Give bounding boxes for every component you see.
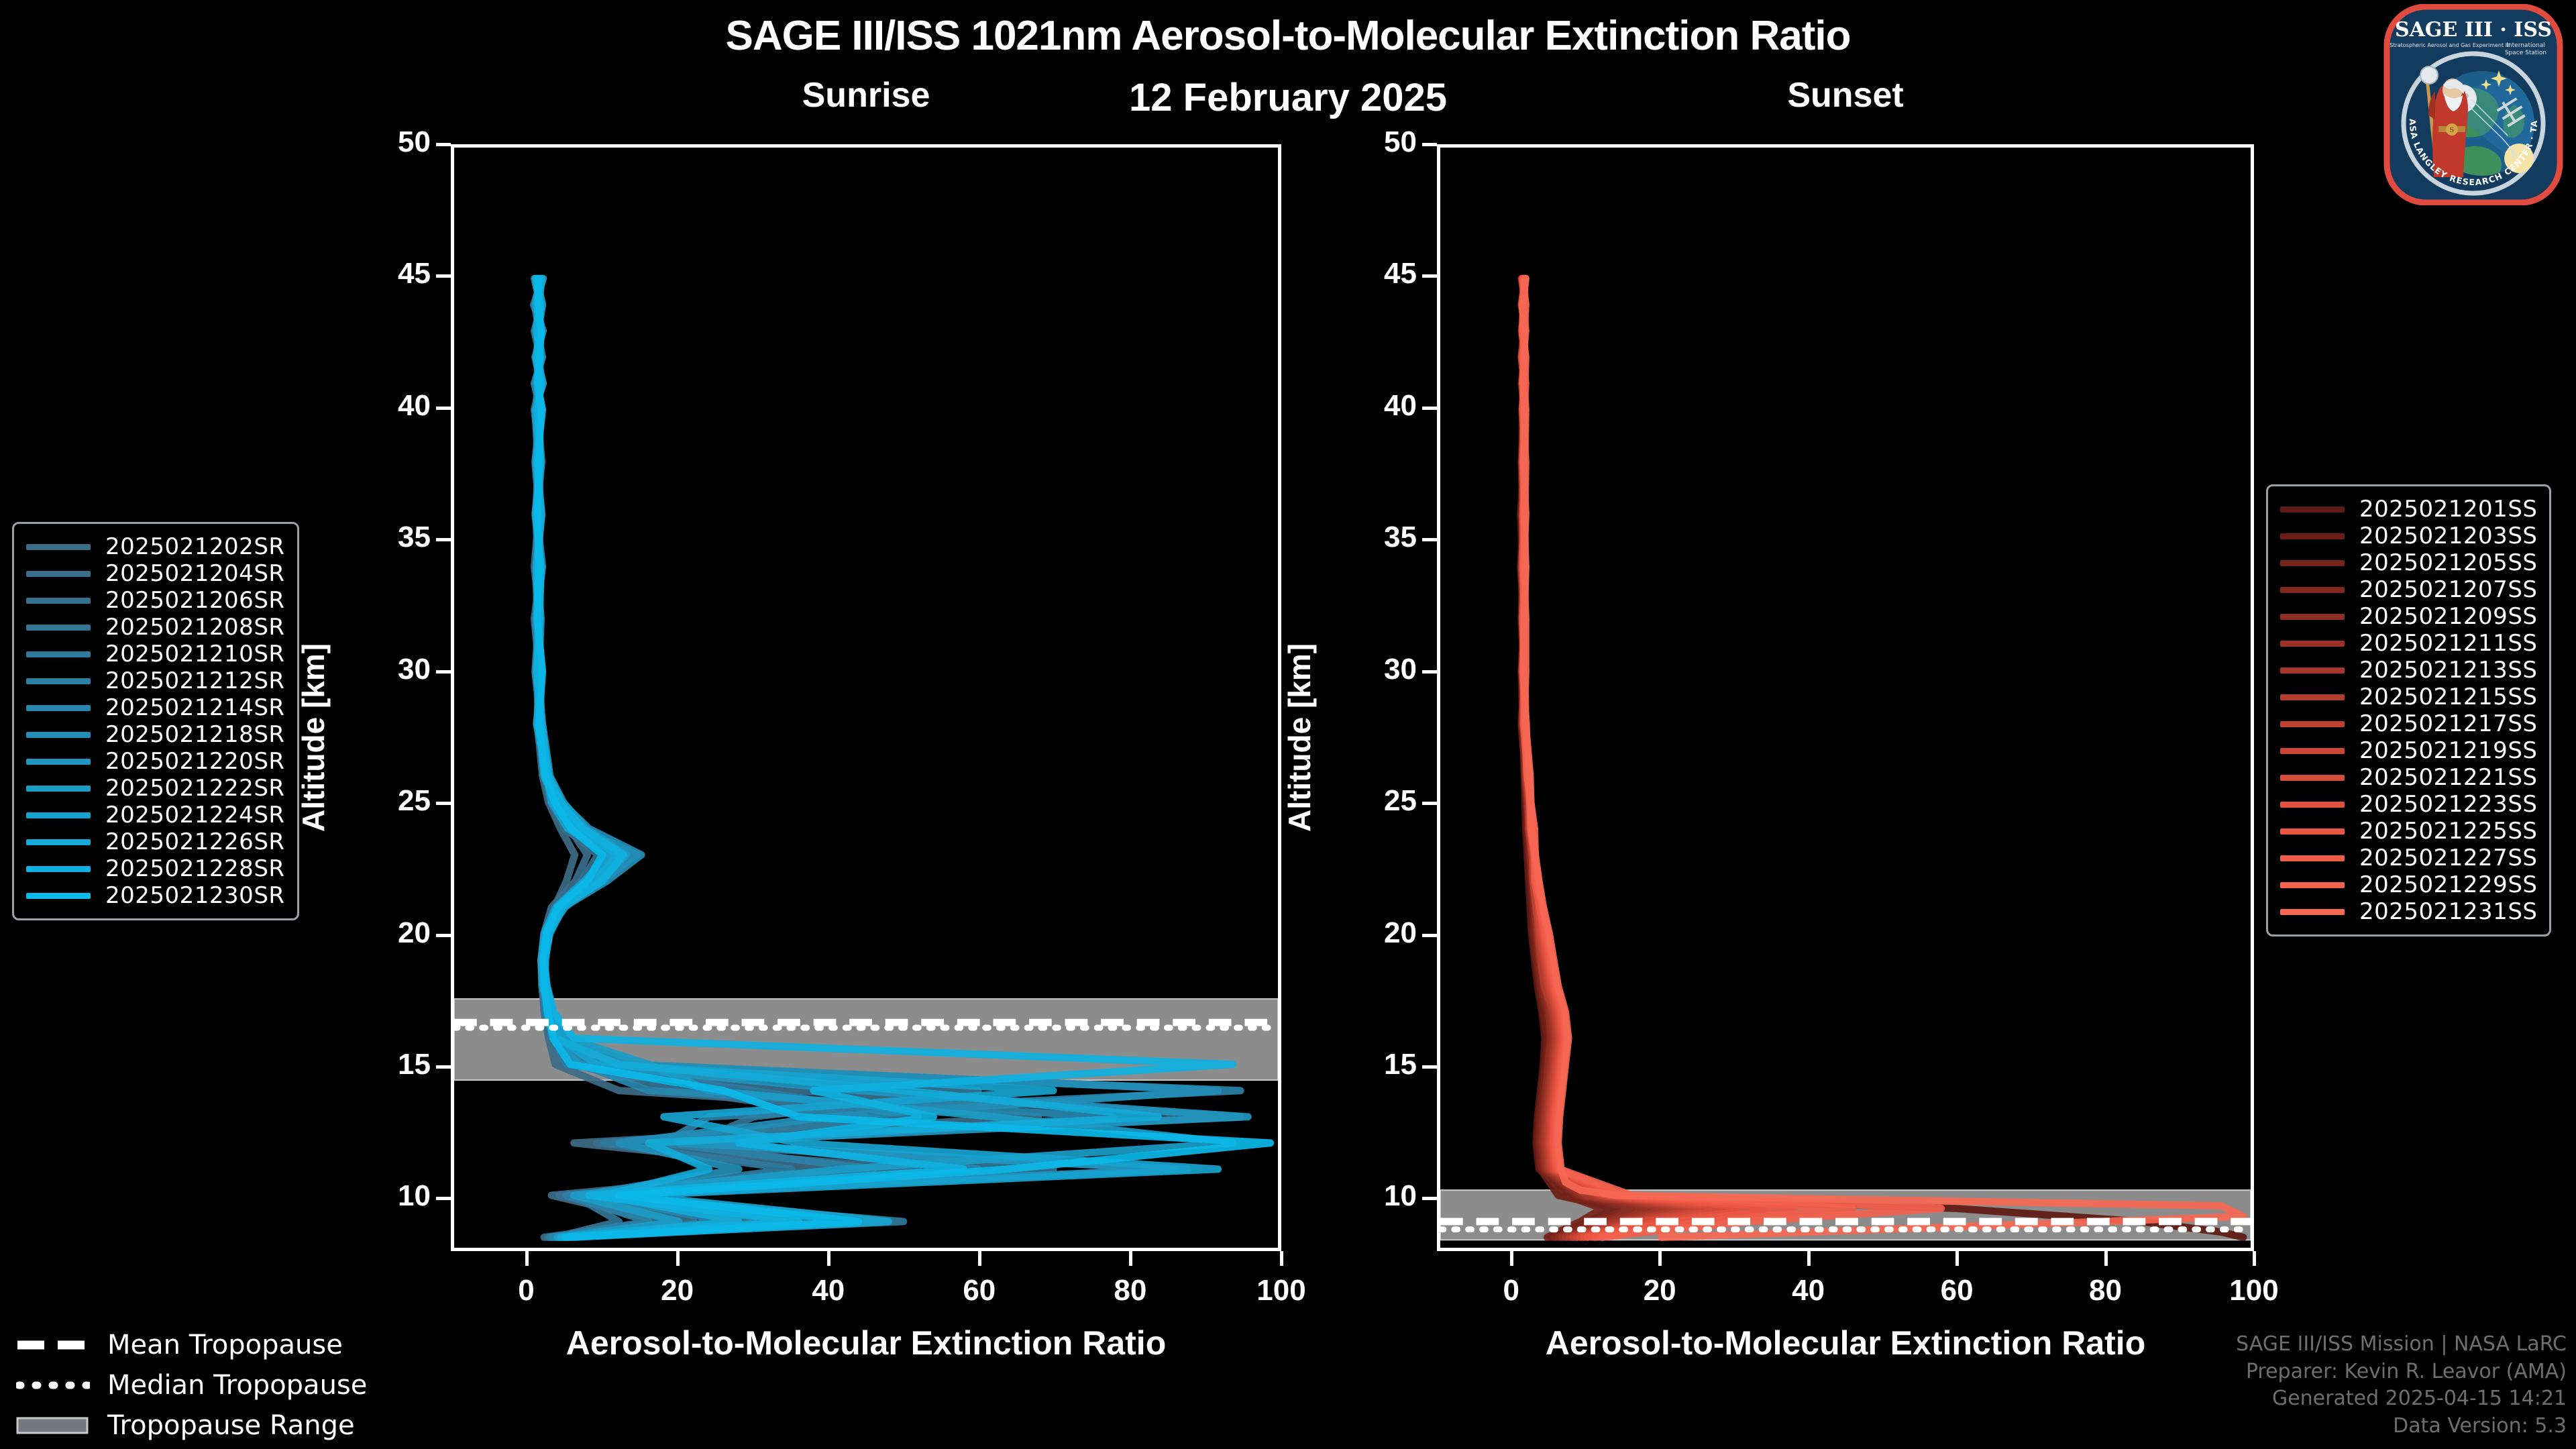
legend-color-swatch — [2280, 882, 2345, 888]
y-tick-label-r-10: 10 — [1343, 1179, 1417, 1213]
legend-item-2025021228SR[interactable]: 2025021228SR — [26, 855, 285, 882]
legend-item-2025021222SR[interactable]: 2025021222SR — [26, 775, 285, 802]
y-tick-mark — [436, 143, 451, 146]
sunset-x-axis-label: Aerosol-to-Molecular Extinction Ratio — [1437, 1324, 2254, 1362]
legend-item-label: 2025021218SR — [105, 721, 285, 748]
y-tick-label-l-25: 25 — [357, 784, 431, 818]
x-tick-mark — [827, 1251, 830, 1266]
legend-color-swatch — [2280, 614, 2345, 620]
tropopause-legend-row: Median Tropopause — [16, 1365, 367, 1405]
legend-item-label: 2025021226SR — [105, 828, 285, 855]
legend-item-2025021206SR[interactable]: 2025021206SR — [26, 587, 285, 614]
legend-item-label: 2025021208SR — [105, 614, 285, 641]
legend-item-2025021230SR[interactable]: 2025021230SR — [26, 882, 285, 909]
y-tick-label-r-15: 15 — [1343, 1048, 1417, 1081]
legend-item-2025021217SS[interactable]: 2025021217SS — [2280, 710, 2537, 737]
legend-item-label: 2025021221SS — [2359, 764, 2537, 791]
y-tick-label-l-40: 40 — [357, 389, 431, 423]
y-tick-mark — [436, 538, 451, 541]
legend-color-swatch — [26, 839, 91, 845]
legend-item-label: 2025021231SS — [2359, 898, 2537, 925]
legend-color-swatch — [2280, 775, 2345, 781]
legend-item-label: 2025021230SR — [105, 882, 285, 909]
legend-item-2025021208SR[interactable]: 2025021208SR — [26, 614, 285, 641]
legend-item-2025021210SR[interactable]: 2025021210SR — [26, 641, 285, 667]
y-tick-label-r-35: 35 — [1343, 521, 1417, 554]
svg-text:SAGE III · ISS: SAGE III · ISS — [2395, 18, 2552, 42]
svg-text:International: International — [2506, 42, 2544, 49]
x-tick-label-r-0: 0 — [1458, 1274, 1565, 1307]
x-tick-label-r-80: 80 — [2052, 1274, 2159, 1307]
legend-item-2025021209SS[interactable]: 2025021209SS — [2280, 603, 2537, 630]
x-tick-mark — [525, 1251, 529, 1266]
x-tick-mark — [1807, 1251, 1811, 1266]
legend-item-2025021229SS[interactable]: 2025021229SS — [2280, 871, 2537, 898]
y-tick-mark — [1422, 802, 1437, 805]
y-tick-label-l-35: 35 — [357, 521, 431, 554]
y-tick-label-r-40: 40 — [1343, 389, 1417, 423]
legend-item-2025021227SS[interactable]: 2025021227SS — [2280, 845, 2537, 871]
legend-item-label: 2025021205SS — [2359, 549, 2537, 576]
y-tick-mark — [436, 1197, 451, 1200]
legend-item-label: 2025021204SR — [105, 560, 285, 587]
credits-line-version: Data Version: 5.3 — [2236, 1413, 2567, 1440]
sage-iii-iss-mission-patch-logo: SAGE III · ISS Stratospheric Aerosol and… — [2383, 4, 2564, 205]
y-tick-mark — [1422, 670, 1437, 674]
legend-item-label: 2025021206SR — [105, 587, 285, 614]
legend-item-2025021223SS[interactable]: 2025021223SS — [2280, 791, 2537, 818]
y-tick-mark — [436, 802, 451, 805]
x-tick-mark — [676, 1251, 680, 1266]
svg-text:Stratospheric Aerosol and Gas: Stratospheric Aerosol and Gas Experiment… — [2390, 42, 2510, 48]
x-tick-mark — [1955, 1251, 1959, 1266]
y-tick-mark — [436, 1065, 451, 1069]
credits-block: SAGE III/ISS Mission | NASA LaRC Prepare… — [2236, 1331, 2567, 1440]
x-tick-mark — [1658, 1251, 1662, 1266]
legend-color-swatch — [2280, 694, 2345, 700]
y-tick-label-l-10: 10 — [357, 1179, 431, 1213]
legend-color-swatch — [26, 759, 91, 765]
legend-color-swatch — [2280, 587, 2345, 593]
x-tick-label-l-60: 60 — [926, 1274, 1033, 1307]
y-tick-mark — [436, 934, 451, 937]
legend-color-swatch — [2280, 533, 2345, 539]
legend-item-label: 2025021222SR — [105, 775, 285, 802]
legend-item-label: 2025021213SS — [2359, 657, 2537, 684]
x-tick-label-l-20: 20 — [624, 1274, 731, 1307]
tropopause-legend: Mean TropopauseMedian TropopauseTropopau… — [16, 1325, 367, 1446]
sunset-y-axis-label: Altitude [km] — [1281, 643, 1318, 832]
legend-item-label: 2025021209SS — [2359, 603, 2537, 630]
y-tick-label-l-50: 50 — [357, 125, 431, 159]
x-tick-mark — [1129, 1251, 1132, 1266]
y-tick-mark — [436, 274, 451, 278]
x-tick-mark — [1510, 1251, 1513, 1266]
legend-item-2025021214SR[interactable]: 2025021214SR — [26, 694, 285, 721]
legend-color-swatch — [2280, 641, 2345, 647]
x-tick-label-l-40: 40 — [775, 1274, 882, 1307]
sunrise-x-axis-label: Aerosol-to-Molecular Extinction Ratio — [451, 1324, 1281, 1362]
sunrise-y-axis-label: Altitude [km] — [295, 643, 331, 832]
x-tick-label-r-20: 20 — [1606, 1274, 1713, 1307]
x-tick-mark — [1280, 1251, 1283, 1266]
legend-item-2025021204SR[interactable]: 2025021204SR — [26, 560, 285, 587]
legend-item-label: 2025021214SR — [105, 694, 285, 721]
legend-color-swatch — [2280, 560, 2345, 566]
y-tick-mark — [1422, 143, 1437, 146]
legend-item-label: 2025021201SS — [2359, 496, 2537, 523]
y-tick-mark — [436, 670, 451, 674]
legend-color-swatch — [26, 705, 91, 711]
legend-color-swatch — [2280, 667, 2345, 674]
tropopause-legend-label: Tropopause Range — [107, 1410, 355, 1441]
y-tick-label-r-20: 20 — [1343, 916, 1417, 950]
page-title: SAGE III/ISS 1021nm Aerosol-to-Molecular… — [0, 12, 2576, 60]
y-tick-label-r-30: 30 — [1343, 653, 1417, 686]
y-tick-label-l-30: 30 — [357, 653, 431, 686]
legend-item-label: 2025021217SS — [2359, 710, 2537, 737]
legend-item-label: 2025021224SR — [105, 802, 285, 828]
legend-item-2025021203SS[interactable]: 2025021203SS — [2280, 523, 2537, 549]
legend-item-2025021225SS[interactable]: 2025021225SS — [2280, 818, 2537, 845]
x-tick-mark — [2253, 1251, 2256, 1266]
legend-item-label: 2025021223SS — [2359, 791, 2537, 818]
svg-text:Space Station: Space Station — [2505, 50, 2546, 56]
legend-color-swatch — [2280, 802, 2345, 808]
legend-color-swatch — [2280, 721, 2345, 727]
panel-label-sunrise: Sunrise — [451, 75, 1281, 115]
panel-label-sunset: Sunset — [1437, 75, 2254, 115]
legend-item-label: 2025021229SS — [2359, 871, 2537, 898]
tropopause-legend-label: Median Tropopause — [107, 1370, 367, 1401]
x-tick-mark — [2104, 1251, 2108, 1266]
legend-item-label: 2025021219SS — [2359, 737, 2537, 764]
legend-color-swatch — [2280, 855, 2345, 861]
legend-item-2025021207SS[interactable]: 2025021207SS — [2280, 576, 2537, 603]
legend-item-label: 2025021227SS — [2359, 845, 2537, 871]
legend-item-label: 2025021212SR — [105, 667, 285, 694]
legend-color-swatch — [2280, 828, 2345, 835]
legend-color-swatch — [26, 812, 91, 818]
legend-item-label: 2025021210SR — [105, 641, 285, 667]
x-tick-label-r-100: 100 — [2200, 1274, 2308, 1307]
legend-item-2025021205SS[interactable]: 2025021205SS — [2280, 549, 2537, 576]
mean-tropopause-line — [16, 1336, 90, 1354]
legend-color-swatch — [26, 732, 91, 738]
legend-item-label: 2025021228SR — [105, 855, 285, 882]
x-tick-mark — [978, 1251, 981, 1266]
legend-color-swatch — [26, 893, 91, 899]
x-tick-label-l-100: 100 — [1228, 1274, 1335, 1307]
legend-color-swatch — [2280, 506, 2345, 513]
svg-text:S: S — [2449, 127, 2454, 134]
legend-color-swatch — [26, 625, 91, 631]
sunrise-plot-axes[interactable] — [451, 144, 1281, 1251]
tropopause-legend-label: Mean Tropopause — [107, 1330, 343, 1360]
legend-color-swatch — [26, 678, 91, 684]
legend-item-2025021218SR[interactable]: 2025021218SR — [26, 721, 285, 748]
legend-color-swatch — [26, 866, 91, 872]
tropopause-range-band — [16, 1417, 90, 1434]
legend-color-swatch — [26, 571, 91, 577]
sunset-event-legend[interactable]: 2025021201SS2025021203SS2025021205SS2025… — [2266, 484, 2551, 936]
y-tick-label-l-45: 45 — [357, 257, 431, 290]
legend-item-label: 2025021202SR — [105, 533, 285, 560]
legend-item-2025021201SS[interactable]: 2025021201SS — [2280, 496, 2537, 523]
legend-color-swatch — [2280, 909, 2345, 915]
legend-item-2025021231SS[interactable]: 2025021231SS — [2280, 898, 2537, 925]
legend-color-swatch — [26, 544, 91, 550]
legend-color-swatch — [26, 651, 91, 657]
y-tick-mark — [1422, 1065, 1437, 1069]
legend-item-label: 2025021211SS — [2359, 630, 2537, 657]
median-tropopause-line — [16, 1377, 90, 1394]
legend-item-2025021213SS[interactable]: 2025021213SS — [2280, 657, 2537, 684]
legend-item-label: 2025021225SS — [2359, 818, 2537, 845]
credits-line-mission: SAGE III/ISS Mission | NASA LaRC — [2236, 1331, 2567, 1358]
y-tick-label-r-50: 50 — [1343, 125, 1417, 159]
x-tick-label-r-60: 60 — [1903, 1274, 2010, 1307]
legend-color-swatch — [26, 786, 91, 792]
x-tick-label-l-80: 80 — [1077, 1274, 1184, 1307]
legend-item-2025021226SR[interactable]: 2025021226SR — [26, 828, 285, 855]
y-tick-mark — [1422, 274, 1437, 278]
y-tick-mark — [1422, 934, 1437, 937]
legend-color-swatch — [26, 598, 91, 604]
legend-item-2025021215SS[interactable]: 2025021215SS — [2280, 684, 2537, 710]
legend-item-2025021221SS[interactable]: 2025021221SS — [2280, 764, 2537, 791]
tropopause-legend-row: Tropopause Range — [16, 1405, 367, 1446]
legend-item-label: 2025021207SS — [2359, 576, 2537, 603]
legend-item-2025021220SR[interactable]: 2025021220SR — [26, 748, 285, 775]
sunset-plot-axes[interactable] — [1437, 144, 2254, 1251]
y-tick-label-l-20: 20 — [357, 916, 431, 950]
tropopause-legend-row: Mean Tropopause — [16, 1325, 367, 1365]
legend-item-2025021202SR[interactable]: 2025021202SR — [26, 533, 285, 560]
legend-item-2025021211SS[interactable]: 2025021211SS — [2280, 630, 2537, 657]
legend-item-2025021219SS[interactable]: 2025021219SS — [2280, 737, 2537, 764]
legend-item-2025021212SR[interactable]: 2025021212SR — [26, 667, 285, 694]
legend-color-swatch — [2280, 748, 2345, 754]
legend-item-2025021224SR[interactable]: 2025021224SR — [26, 802, 285, 828]
y-tick-label-r-25: 25 — [1343, 784, 1417, 818]
y-tick-mark — [1422, 538, 1437, 541]
y-tick-mark — [1422, 1197, 1437, 1200]
y-tick-mark — [1422, 407, 1437, 410]
y-tick-mark — [436, 407, 451, 410]
legend-item-label: 2025021203SS — [2359, 523, 2537, 549]
x-tick-label-r-40: 40 — [1755, 1274, 1862, 1307]
sunrise-event-legend[interactable]: 2025021202SR2025021204SR2025021206SR2025… — [12, 522, 299, 920]
y-tick-label-r-45: 45 — [1343, 257, 1417, 290]
legend-item-label: 2025021220SR — [105, 748, 285, 775]
credits-line-preparer: Preparer: Kevin R. Leavor (AMA) — [2236, 1358, 2567, 1386]
legend-item-label: 2025021215SS — [2359, 684, 2537, 710]
credits-line-generated: Generated 2025-04-15 14:21 — [2236, 1385, 2567, 1413]
x-tick-label-l-0: 0 — [473, 1274, 580, 1307]
y-tick-label-l-15: 15 — [357, 1048, 431, 1081]
